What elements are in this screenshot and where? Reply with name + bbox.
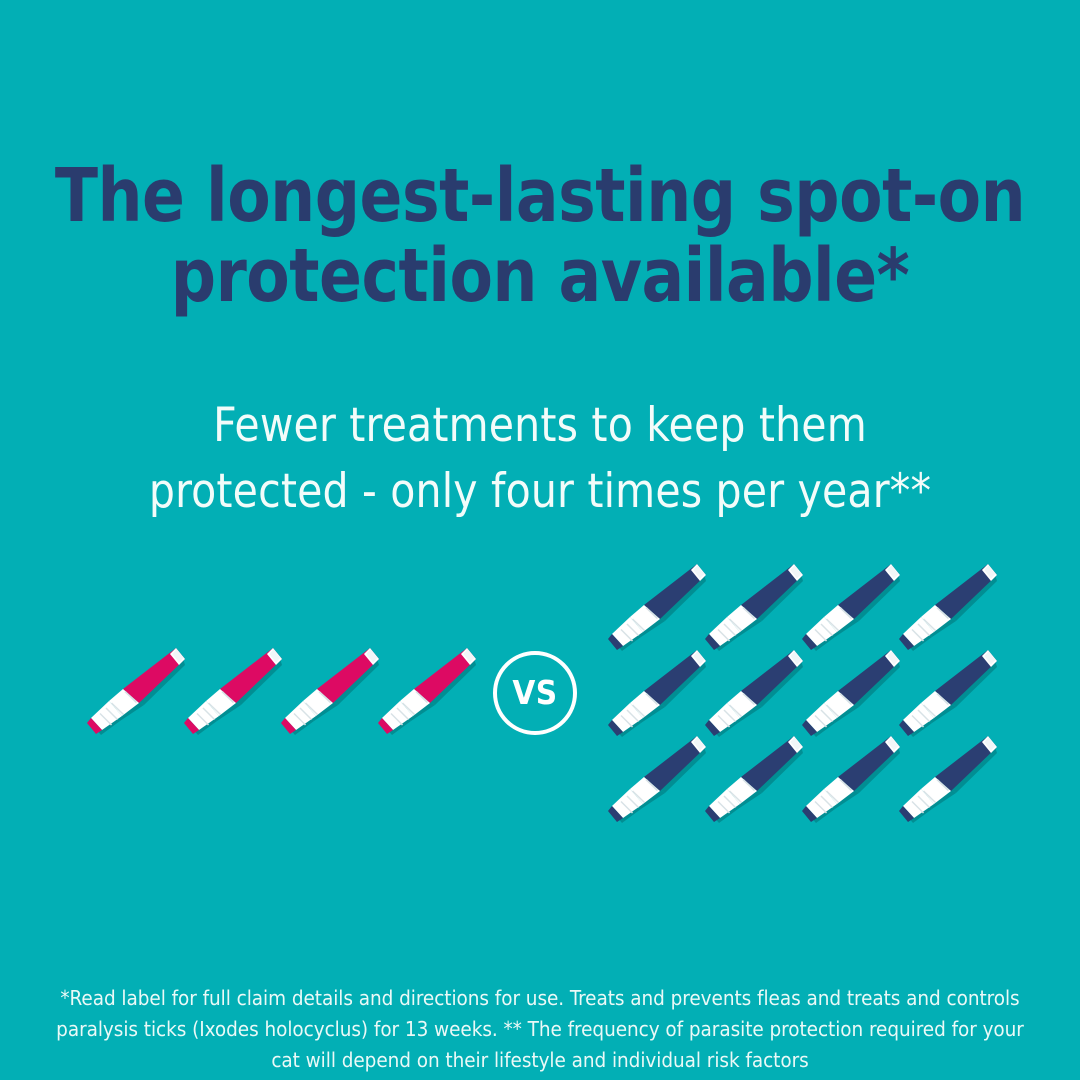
- applicator-tube-icon: [179, 642, 283, 746]
- promotional-poster: The longest-lasting spot-on protection a…: [0, 0, 1080, 1080]
- vs-badge: VS: [493, 651, 577, 735]
- footnote-text: *Read label for full claim details and d…: [46, 983, 1034, 1076]
- applicator-tube-icon: [894, 730, 998, 834]
- applicator-tube-icon: [797, 730, 901, 834]
- applicator-tube-icon: [603, 730, 707, 834]
- page-title: The longest-lasting spot-on protection a…: [27, 156, 1053, 316]
- applicator-tube-icon: [82, 642, 186, 746]
- applicator-tube-icon: [276, 642, 380, 746]
- applicator-tube-icon: [700, 730, 804, 834]
- subtitle-text: Fewer treatments to keep them protected …: [16, 393, 1064, 525]
- applicator-tube-icon: [373, 642, 477, 746]
- vs-label: VS: [512, 676, 557, 709]
